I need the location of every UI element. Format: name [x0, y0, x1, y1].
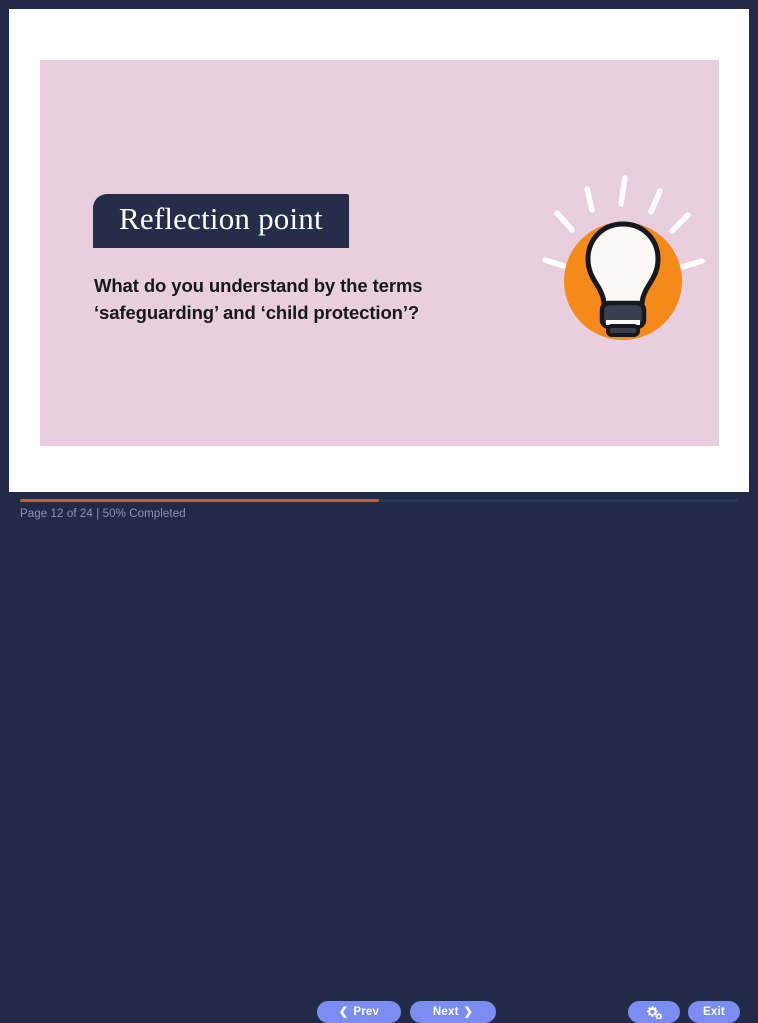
- progress-bar-fill: [20, 499, 379, 502]
- lightbulb-glass-icon: [588, 224, 658, 304]
- prev-button-label: Prev: [353, 1006, 379, 1018]
- exit-button-label: Exit: [703, 1006, 725, 1018]
- slide-canvas: Reflection point What do you understand …: [40, 60, 719, 446]
- progress-bar-track[interactable]: [20, 499, 738, 502]
- player-footer: Page 12 of 24 | 50% Completed ❮ Prev Nex…: [0, 492, 758, 560]
- progress-status-text: Page 12 of 24 | 50% Completed: [20, 508, 186, 520]
- exit-button[interactable]: Exit: [688, 1001, 740, 1023]
- slide-title-plaque: Reflection point: [93, 194, 349, 248]
- lightbulb-icon: [512, 160, 712, 350]
- course-page: Reflection point What do you understand …: [9, 9, 749, 492]
- lightbulb-cap-icon: [608, 326, 638, 335]
- gears-icon: [645, 1005, 663, 1019]
- prev-button[interactable]: ❮ Prev: [317, 1001, 401, 1023]
- chevron-right-icon: ❯: [464, 1007, 473, 1018]
- settings-button[interactable]: [628, 1001, 680, 1023]
- next-button[interactable]: Next ❯: [410, 1001, 496, 1023]
- reflection-question-text: What do you understand by the terms ‘saf…: [94, 273, 494, 327]
- chevron-left-icon: ❮: [339, 1007, 348, 1018]
- course-player-window: Reflection point What do you understand …: [0, 0, 758, 560]
- next-button-label: Next: [433, 1006, 459, 1018]
- page-title: Reflection point: [119, 203, 323, 236]
